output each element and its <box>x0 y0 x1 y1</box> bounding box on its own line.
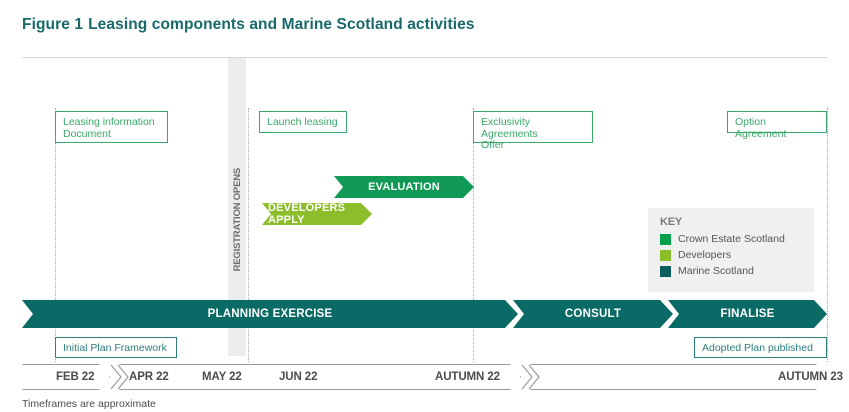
milestone-option-agreement: Option Agreement <box>727 111 827 133</box>
key-legend-label: Crown Estate Scotland <box>678 233 785 245</box>
key-swatch-icon <box>660 250 671 261</box>
process-bar: PLANNING EXERCISECONSULTFINALISE <box>22 300 827 328</box>
registration-opens-label: REGISTRATION OPENS <box>228 150 246 290</box>
figure-number: Figure 1 <box>22 16 83 33</box>
activity-arrow-developers-apply: DEVELOPERS APPLY <box>262 203 372 225</box>
page-title: Figure 1Leasing components and Marine Sc… <box>22 16 475 34</box>
key-legend-title: KEY <box>660 216 814 228</box>
axis-label-feb-22: FEB 22 <box>56 364 94 390</box>
registration-opens-text: REGISTRATION OPENS <box>232 168 243 271</box>
figure-title-text: Leasing components and Marine Scotland a… <box>88 16 474 33</box>
axis-chevron-3 <box>528 364 540 390</box>
key-legend-row: Marine Scotland <box>660 263 814 279</box>
milestone-initial-plan-framework: Initial Plan Framework <box>55 337 177 358</box>
key-legend-row: Developers <box>660 247 814 263</box>
process-segment-consult: CONSULT <box>513 300 673 328</box>
milestone-adopted-plan-published: Adopted Plan published <box>694 337 827 358</box>
key-swatch-icon <box>660 234 671 245</box>
process-segment-finalise: FINALISE <box>668 300 827 328</box>
key-legend: KEY Crown Estate ScotlandDevelopersMarin… <box>648 208 814 292</box>
footnote: Timeframes are approximate <box>22 398 156 410</box>
activity-arrow-evaluation: EVALUATION <box>334 176 474 198</box>
axis-label-jun-22: JUN 22 <box>279 364 317 390</box>
key-legend-label: Developers <box>678 249 731 261</box>
key-legend-items: Crown Estate ScotlandDevelopersMarine Sc… <box>660 231 814 279</box>
milestone-exclusivity-agreements-offer: Exclusivity Agreements Offer <box>473 111 593 143</box>
milestone-launch-leasing: Launch leasing <box>259 111 347 133</box>
guide-line-3 <box>827 108 829 362</box>
process-segment-planning-exercise: PLANNING EXERCISE <box>22 300 518 328</box>
axis-label-apr-22: APR 22 <box>129 364 169 390</box>
key-legend-row: Crown Estate Scotland <box>660 231 814 247</box>
axis-label-may-22: MAY 22 <box>202 364 242 390</box>
key-swatch-icon <box>660 266 671 277</box>
axis-label-autumn-23: AUTUMN 23 <box>778 364 843 390</box>
axis-label-autumn-22: AUTUMN 22 <box>435 364 500 390</box>
milestone-leasing-information-document: Leasing information Document <box>55 111 168 143</box>
axis-chevron-1 <box>117 364 129 390</box>
key-legend-label: Marine Scotland <box>678 265 754 277</box>
top-divider <box>22 57 827 58</box>
